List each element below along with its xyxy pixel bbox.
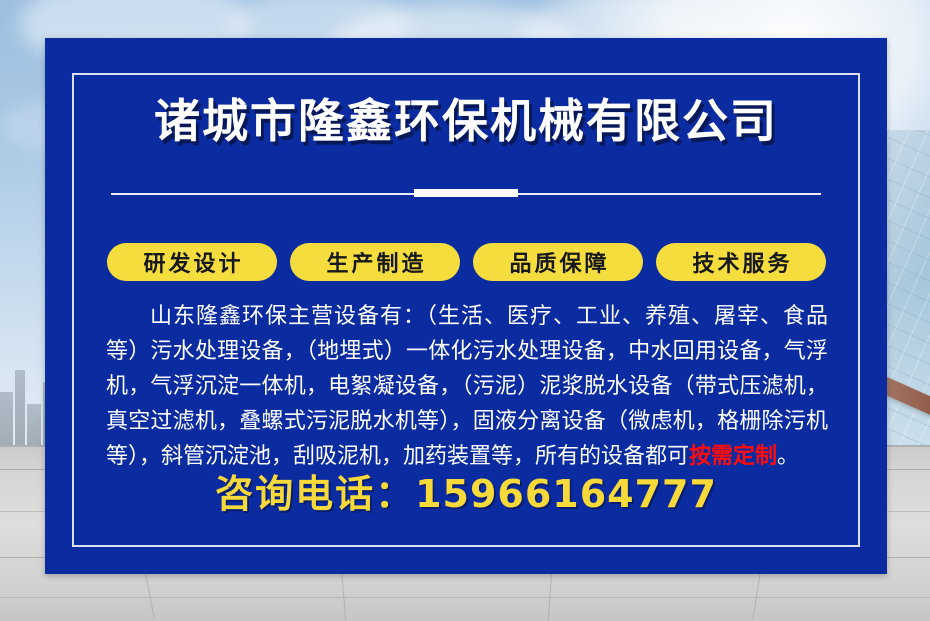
phone-label: 咨询电话： xyxy=(215,472,415,516)
badge-rd-design[interactable]: 研发设计 xyxy=(107,243,277,281)
contact-phone-line: 咨询电话：15966164777 xyxy=(45,475,887,513)
divider-center-block xyxy=(414,189,518,197)
promo-poster: 诸城市隆鑫环保机械有限公司 研发设计 生产制造 品质保障 技术服务 山东隆鑫环保… xyxy=(0,0,930,621)
plaza-seam xyxy=(0,597,930,598)
badge-quality-assurance[interactable]: 品质保障 xyxy=(473,243,643,281)
blue-content-panel: 诸城市隆鑫环保机械有限公司 研发设计 生产制造 品质保障 技术服务 山东隆鑫环保… xyxy=(45,38,887,574)
description-tail-text: 。 xyxy=(777,444,799,469)
phone-number[interactable]: 15966164777 xyxy=(415,472,717,516)
title-divider xyxy=(111,188,821,200)
description-highlight-text: 按需定制 xyxy=(689,444,777,469)
product-description: 山东隆鑫环保主营设备有：（生活、医疗、工业、养殖、屠宰、食品等）污水处理设备，（… xyxy=(106,299,828,474)
company-title: 诸城市隆鑫环保机械有限公司 xyxy=(45,98,887,144)
badge-technical-service[interactable]: 技术服务 xyxy=(656,243,826,281)
badge-manufacturing[interactable]: 生产制造 xyxy=(290,243,460,281)
feature-badge-row: 研发设计 生产制造 品质保障 技术服务 xyxy=(107,243,826,281)
